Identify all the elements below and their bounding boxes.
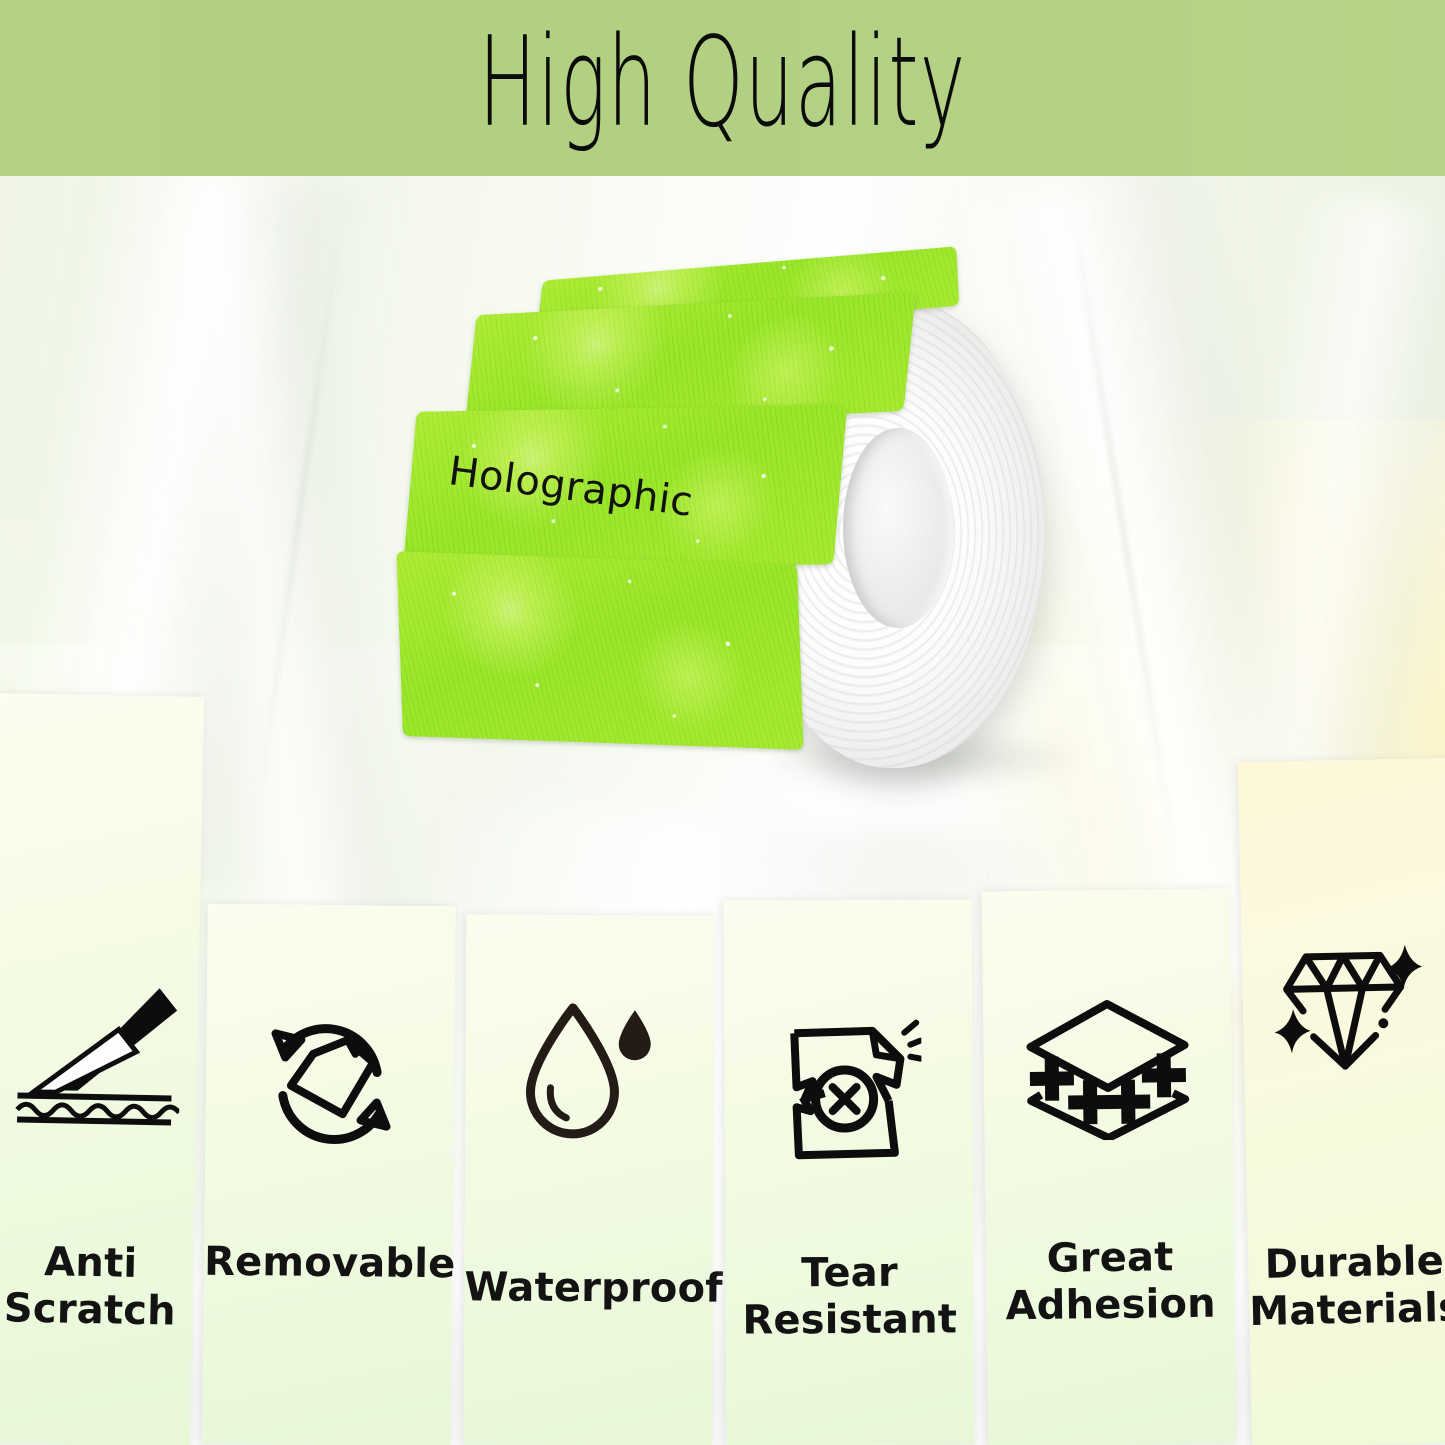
card-background (982, 889, 1237, 1445)
feature-card-tear-resistant[interactable]: Tear Resistant (724, 899, 975, 1445)
blade-scratch-icon (0, 973, 199, 1127)
diamond-sparkle-icon (1242, 938, 1445, 1092)
card-background (1238, 758, 1445, 1445)
feature-label: Great Adhesion (986, 1233, 1235, 1330)
card-background (724, 899, 975, 1445)
roll-core-hole (843, 428, 953, 628)
torn-paper-x-icon (724, 1014, 973, 1165)
header-band: High Quality (0, 0, 1445, 176)
feature-card-durable-materials[interactable]: Durable Materials (1238, 758, 1445, 1445)
product-image-label-roll: Holographic (400, 258, 1025, 803)
feature-card-great-adhesion[interactable]: Great Adhesion (982, 889, 1237, 1445)
feature-label: Tear Resistant (725, 1249, 973, 1344)
water-drop-icon (465, 999, 714, 1145)
page-title: High Quality (275, 8, 1171, 158)
feature-card-waterproof[interactable]: Waterproof (464, 914, 715, 1445)
feature-label: Durable Materials (1248, 1238, 1445, 1336)
label-sticker (396, 551, 803, 750)
feature-label: Waterproof (464, 1264, 712, 1312)
layers-plus-icon (983, 988, 1233, 1141)
feature-label: Anti Scratch (0, 1238, 194, 1336)
feature-card-removable[interactable]: Removable (202, 904, 456, 1445)
feature-label: Removable (204, 1239, 452, 1289)
card-background (464, 914, 715, 1445)
product-feature-banner: High Quality Holographic Anti Sc (0, 0, 1445, 1445)
feature-card-anti-scratch[interactable]: Anti Scratch (0, 693, 204, 1445)
recycle-label-icon (205, 1009, 454, 1152)
card-background (202, 904, 456, 1445)
